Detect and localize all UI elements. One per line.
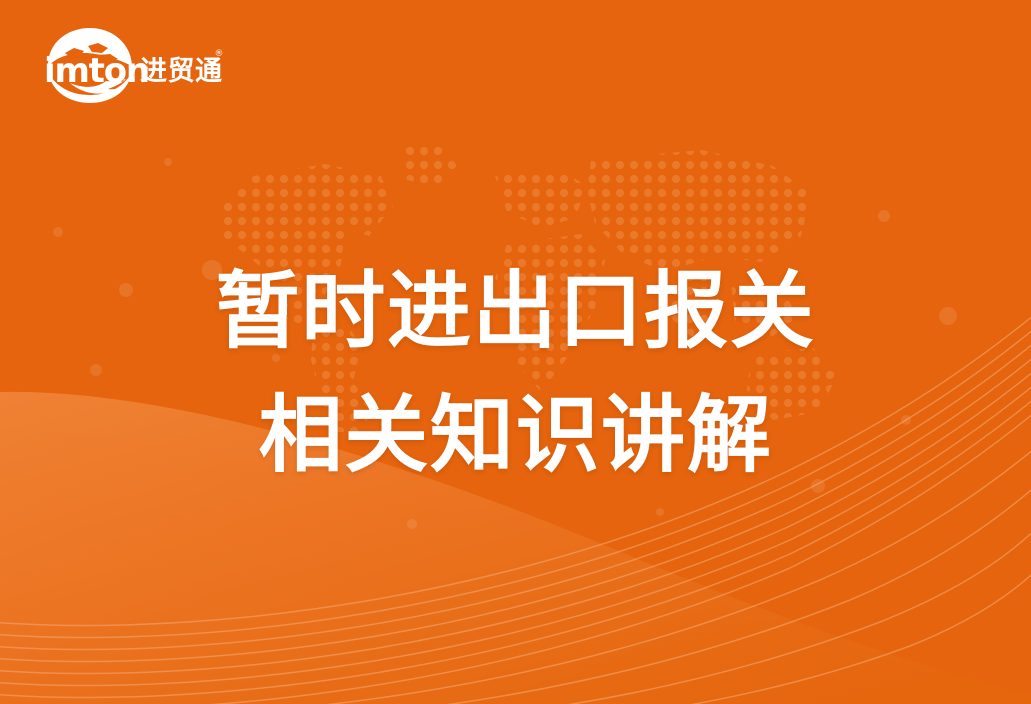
trademark-icon: ® [215,49,224,59]
headline-line-2: 相关知识讲解 [0,382,1031,490]
logo-latin-text: imton [44,51,149,91]
headline-line-1: 暂时进出口报关 [0,258,1031,366]
brand-logo[interactable]: imton 进贸通 ® [36,26,226,104]
promo-banner: imton 进贸通 ® 暂时进出口报关 相关知识讲解 [0,0,1031,704]
headline: 暂时进出口报关 相关知识讲解 [0,258,1031,489]
logo-chinese-text: 进贸通 [140,56,223,87]
